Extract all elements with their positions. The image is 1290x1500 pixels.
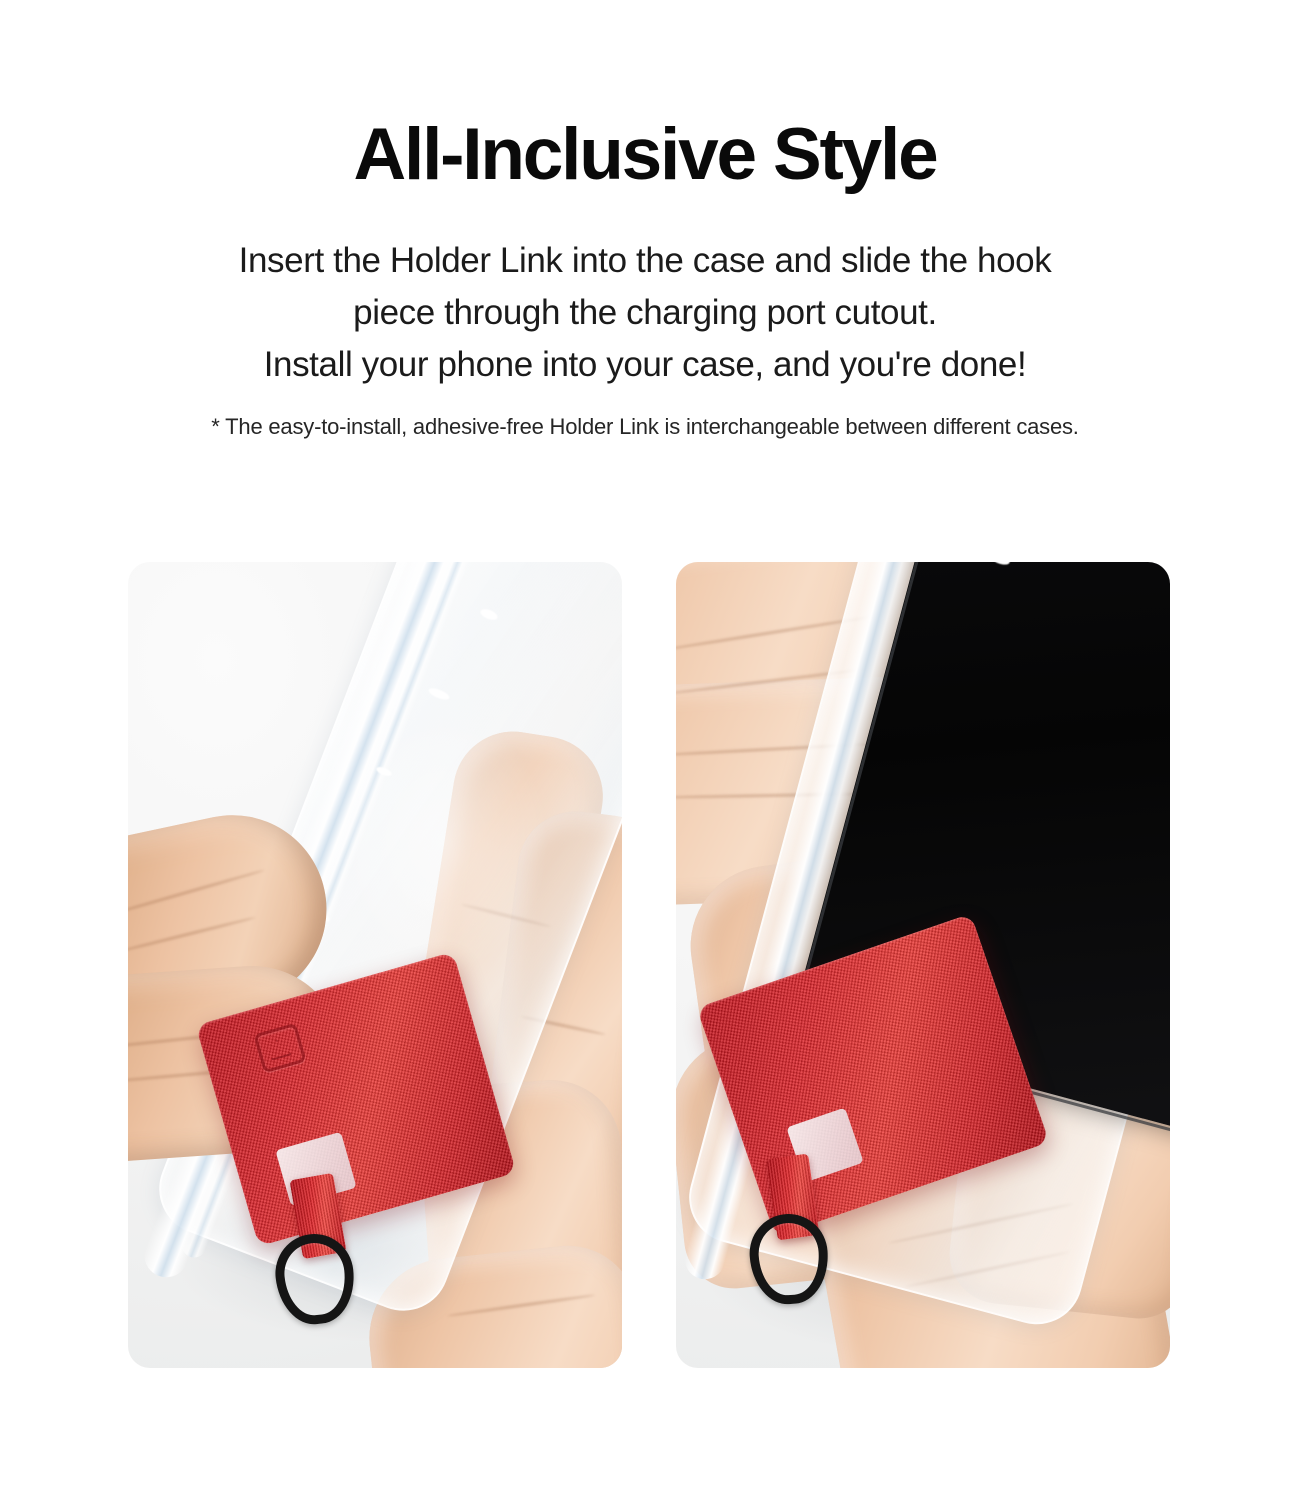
photo-scene-step-1 <box>128 562 622 1368</box>
logo-triangle-icon <box>266 1037 292 1061</box>
photo-scene-step-2 <box>676 562 1170 1368</box>
product-image-step-1 <box>128 562 622 1368</box>
subtitle-line-1: Insert the Holder Link into the case and… <box>115 235 1175 287</box>
subtitle-block: Insert the Holder Link into the case and… <box>115 191 1175 391</box>
footnote-text: * The easy-to-install, adhesive-free Hol… <box>70 391 1220 442</box>
product-feature-page: All-Inclusive Style Insert the Holder Li… <box>0 0 1290 1500</box>
page-title: All-Inclusive Style <box>0 0 1290 191</box>
image-gallery <box>128 562 1170 1368</box>
subtitle-line-2: piece through the charging port cutout. <box>115 287 1175 339</box>
subtitle-line-3: Install your phone into your case, and y… <box>115 339 1175 391</box>
product-image-step-2 <box>676 562 1170 1368</box>
case-highlight <box>338 712 548 972</box>
header-block: All-Inclusive Style Insert the Holder Li… <box>0 0 1290 442</box>
